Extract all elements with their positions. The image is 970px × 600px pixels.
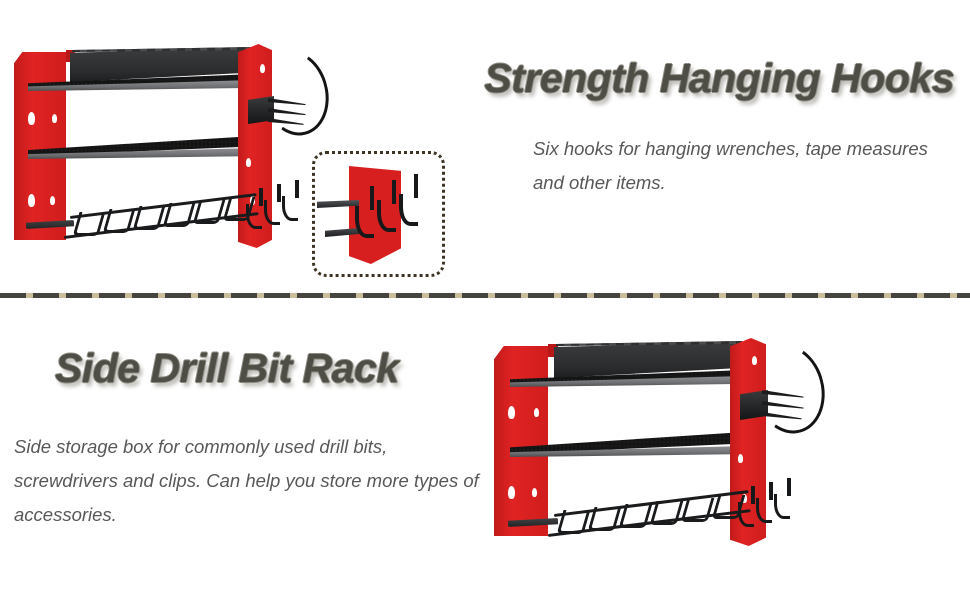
product-image-hanging-hooks bbox=[10, 28, 310, 268]
hook-stem bbox=[295, 180, 299, 198]
hanging-hook bbox=[282, 196, 298, 221]
callout-hook-stem bbox=[370, 186, 374, 210]
keyhole-slot bbox=[508, 406, 515, 419]
hook-stem bbox=[769, 482, 773, 500]
callout-hook-stem bbox=[392, 180, 396, 204]
keyhole-slot bbox=[28, 112, 35, 125]
keyhole-slot bbox=[534, 408, 539, 417]
section-heading-hanging-hooks: Strength Hanging Hooks bbox=[484, 55, 954, 102]
keyhole-slot bbox=[246, 158, 251, 167]
keyhole-slot bbox=[556, 406, 561, 415]
section-body-hanging-hooks: Six hooks for hanging wrenches, tape mea… bbox=[533, 132, 933, 200]
hanging-hook bbox=[264, 200, 280, 225]
rack-slot bbox=[193, 200, 226, 224]
callout-hook bbox=[399, 194, 418, 226]
bottom-wire-rack bbox=[24, 192, 260, 250]
callout-hook-stem bbox=[414, 174, 418, 198]
section-heading-drill-bit-rack: Side Drill Bit Rack bbox=[55, 345, 399, 392]
callout-hooks-detail bbox=[312, 151, 445, 277]
rack-base-tray bbox=[508, 518, 558, 527]
section-side-drill-bit-rack: Side Drill Bit Rack Side storage box for… bbox=[0, 300, 970, 600]
section-divider bbox=[0, 291, 970, 299]
rack-base-tray bbox=[26, 220, 74, 229]
rack-slot bbox=[650, 501, 684, 525]
section-body-drill-bit-rack: Side storage box for commonly used drill… bbox=[14, 430, 484, 532]
hook-stem bbox=[277, 184, 281, 202]
hook-stem bbox=[751, 486, 755, 504]
hook-stem bbox=[787, 478, 791, 496]
keyhole-slot bbox=[738, 454, 743, 463]
product-infographic: Strength Hanging Hooks Six hooks for han… bbox=[0, 0, 970, 600]
rack-slot bbox=[712, 495, 746, 519]
rack-slot bbox=[223, 197, 256, 221]
keyhole-slot bbox=[52, 114, 57, 123]
section-strength-hanging-hooks: Strength Hanging Hooks Six hooks for han… bbox=[0, 0, 970, 292]
hanging-hook bbox=[756, 498, 772, 523]
hanging-hook bbox=[774, 494, 790, 519]
product-image-drill-bit-rack bbox=[490, 322, 820, 572]
bottom-wire-rack bbox=[506, 488, 750, 546]
rack-slot bbox=[681, 498, 715, 522]
